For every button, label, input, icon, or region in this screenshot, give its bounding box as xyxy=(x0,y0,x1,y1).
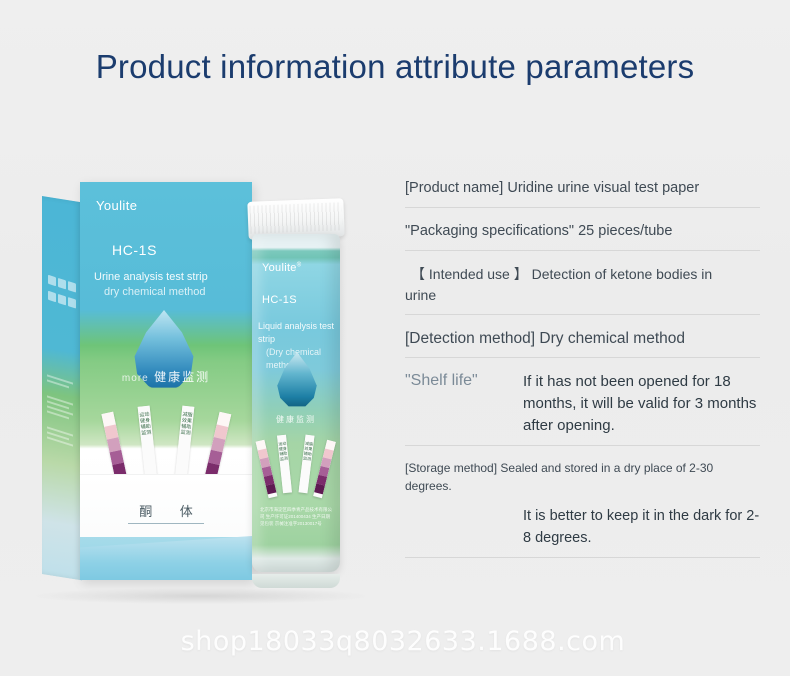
tube-base xyxy=(252,574,340,588)
box-side-text-lines xyxy=(47,374,77,451)
spec-detection-method-text: [Detection method] Dry chemical method xyxy=(405,328,760,349)
box-description-line2: dry chemical method xyxy=(94,285,252,300)
box-analyte-label: 酮 体 xyxy=(80,501,252,520)
page-title: Product information attribute parameters xyxy=(0,48,790,86)
product-spec-list: [Product name] Uridine urine visual test… xyxy=(405,178,760,571)
box-side-icon-grid xyxy=(48,275,76,309)
box-side-panel xyxy=(42,196,82,580)
test-strip-label: 运动健身辅助监测 xyxy=(138,412,152,437)
spec-storage-method-text: [Storage method] Sealed and stored in a … xyxy=(405,459,760,495)
product-tube: Youlite® HC-1S Liquid analysis test stri… xyxy=(242,200,352,588)
box-description: Urine analysis test strip dry chemical m… xyxy=(94,270,252,300)
box-brand-label: Youlite xyxy=(96,198,137,213)
box-model-label: HC-1S xyxy=(112,242,157,258)
test-strip-label: 减脂效果辅助监测 xyxy=(179,412,193,437)
tube-cap-ribs xyxy=(249,202,342,234)
tube-test-strips: 运动健身辅助监测 减脂效果辅助监测 xyxy=(260,434,332,496)
spec-packaging-text: "Packaging specifications" 25 pieces/tub… xyxy=(405,221,760,242)
test-strip xyxy=(256,440,278,499)
tube-description-line1: Liquid analysis test strip xyxy=(258,320,340,346)
test-strip-label: 减脂效果辅助监测 xyxy=(302,441,313,462)
spec-product-name-text: [Product name] Uridine urine visual test… xyxy=(405,178,760,199)
box-window-rule xyxy=(128,523,204,524)
test-strip: 运动健身辅助监测 xyxy=(277,435,292,494)
test-strip xyxy=(313,440,336,498)
spec-row-intended-use: 【 Intended use 】 Detection of ketone bod… xyxy=(405,264,760,315)
tube-fineprint: 北京市海淀区四季青产品技术有限公司 生产许可证201400434 生产日期见包装… xyxy=(260,506,332,527)
spec-row-shelf-life: "Shelf life" If it has not been opened f… xyxy=(405,371,760,446)
spec-storage-method-extra: It is better to keep it in the dark for … xyxy=(523,495,760,549)
spec-row-product-name: [Product name] Uridine urine visual test… xyxy=(405,178,760,208)
spec-intended-use-line1: 【 Intended use 】 Detection of ketone bod… xyxy=(405,264,760,285)
box-slogan-en: more xyxy=(122,373,149,384)
box-slogan: more 健康监测 xyxy=(90,368,242,385)
box-window-panel: 酮 体 xyxy=(80,474,252,537)
product-box: Youlite HC-1S Urine analysis test strip … xyxy=(42,182,252,580)
box-bottom-band xyxy=(80,536,252,580)
tube-brand-text: Youlite xyxy=(262,262,297,274)
tube-body: Youlite® HC-1S Liquid analysis test stri… xyxy=(252,234,340,572)
spec-shelf-life-value: If it has not been opened for 18 months,… xyxy=(523,371,760,437)
spec-shelf-life-label: "Shelf life" xyxy=(405,371,523,390)
test-strip-label: 运动健身辅助监测 xyxy=(278,441,289,462)
spec-intended-use-line2: urine xyxy=(405,285,760,306)
box-description-line1: Urine analysis test strip xyxy=(94,270,252,285)
test-strip: 减脂效果辅助监测 xyxy=(298,435,314,494)
tube-model-label: HC-1S xyxy=(262,294,297,306)
spec-row-detection-method: [Detection method] Dry chemical method xyxy=(405,328,760,358)
site-watermark: shop18033q8032633.1688.com xyxy=(0,626,790,657)
product-info-page: Product information attribute parameters… xyxy=(0,0,790,676)
spec-row-packaging-specifications: "Packaging specifications" 25 pieces/tub… xyxy=(405,221,760,251)
product-shadow xyxy=(36,588,366,604)
product-image: Youlite HC-1S Urine analysis test strip … xyxy=(30,170,390,600)
box-slogan-cn: 健康监测 xyxy=(154,370,210,384)
registered-mark-icon: ® xyxy=(297,262,302,268)
box-front-panel: Youlite HC-1S Urine analysis test strip … xyxy=(80,182,252,580)
spec-row-storage-method: [Storage method] Sealed and stored in a … xyxy=(405,459,760,558)
tube-brand-label: Youlite® xyxy=(262,262,301,274)
tube-slogan: 健康监测 xyxy=(252,414,340,425)
